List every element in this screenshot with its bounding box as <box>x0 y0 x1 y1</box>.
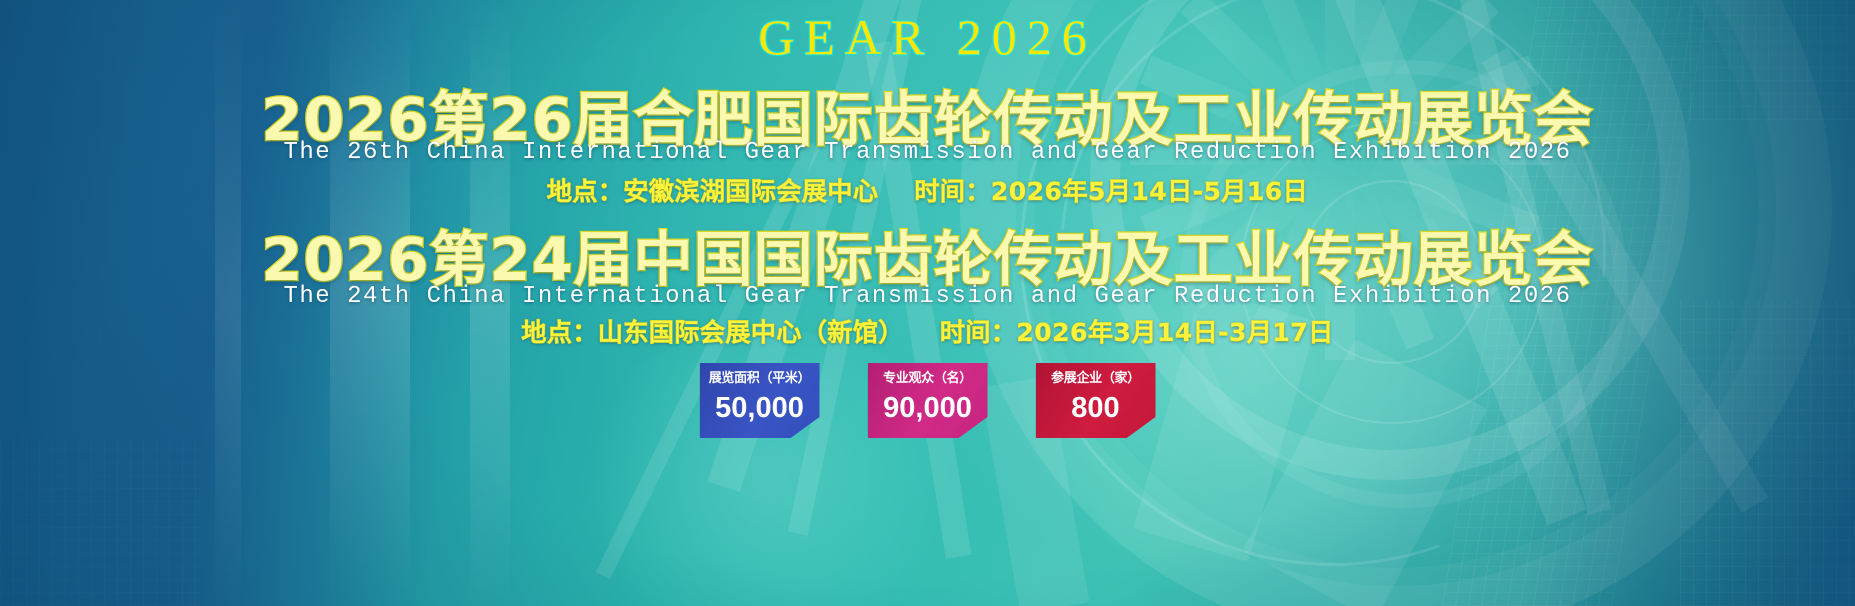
event2-venue-label: 地点： <box>521 318 598 347</box>
event2-date: 2026年3月14日-3月17日 <box>1016 318 1333 347</box>
stat-value: 50,000 <box>715 394 804 423</box>
exhibition-banner: GEAR 2026 2026第26届合肥国际齿轮传动及工业传动展览会 The 2… <box>0 0 1855 606</box>
event2-date-label: 时间： <box>940 318 1017 347</box>
event2-venue: 山东国际会展中心（新馆） <box>598 318 904 347</box>
stat-label: 专业观众（名） <box>883 372 972 385</box>
stat-label: 参展企业（家） <box>1051 372 1140 385</box>
stat-badge-visitors: 专业观众（名） 90,000 <box>868 363 988 438</box>
event1-venue-label: 地点： <box>547 177 624 206</box>
stat-value: 800 <box>1071 394 1119 423</box>
event2-title-en: The 24th China International Gear Transm… <box>0 283 1855 310</box>
event1-date: 2026年5月14日-5月16日 <box>991 177 1308 206</box>
stat-badge-exhibitors: 参展企业（家） 800 <box>1036 363 1156 438</box>
stats-badge-group: 展览面积（平米） 50,000 专业观众（名） 90,000 参展企业（家） 8… <box>0 363 1855 438</box>
stat-value: 90,000 <box>883 394 972 423</box>
gear-eyebrow-title: GEAR 2026 <box>0 8 1855 66</box>
event1-info-line: 地点：安徽滨湖国际会展中心时间：2026年5月14日-5月16日 <box>0 172 1855 208</box>
event1-venue: 安徽滨湖国际会展中心 <box>623 177 878 206</box>
event1-title-en: The 26th China International Gear Transm… <box>0 139 1855 166</box>
stat-badge-exhibition-area: 展览面积（平米） 50,000 <box>700 363 820 438</box>
stat-label: 展览面积（平米） <box>709 372 811 385</box>
banner-content: GEAR 2026 2026第26届合肥国际齿轮传动及工业传动展览会 The 2… <box>0 0 1855 606</box>
event2-info-line: 地点：山东国际会展中心（新馆）时间：2026年3月14日-3月17日 <box>0 313 1855 349</box>
event1-date-label: 时间： <box>914 177 991 206</box>
